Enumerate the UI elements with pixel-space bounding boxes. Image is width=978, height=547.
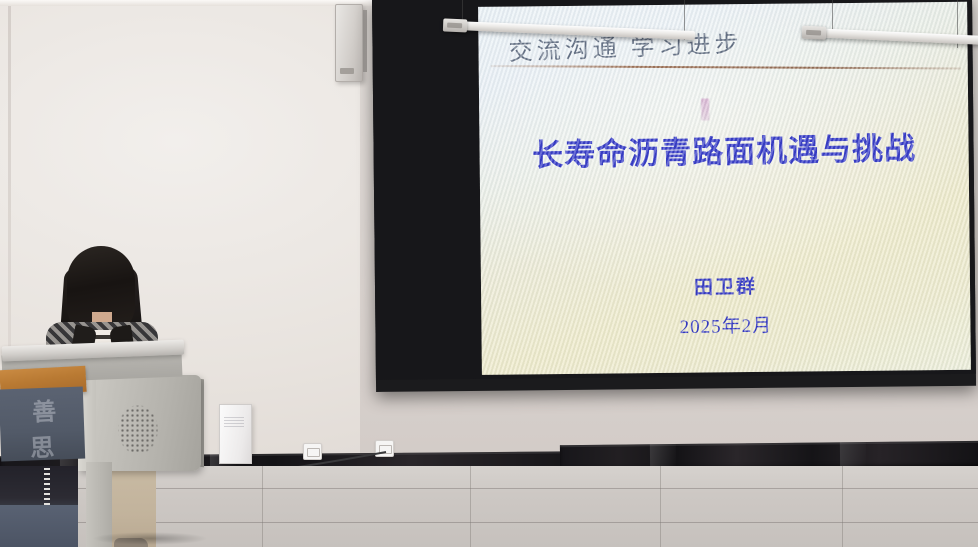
floor-grout-line [842,466,843,547]
wall-control-box[interactable] [219,404,252,464]
pendant-light-endcap [443,18,468,32]
lecture-photo: 交流沟通 学习进步 长寿命沥青路面机遇与挑战 田卫群 2025年2月 [0,0,978,547]
front-desk-base [0,505,78,547]
ceiling-edge [0,0,380,6]
desk-glyph-1: 善 [31,391,57,427]
slide-author: 田卫群 [481,268,970,304]
desk-glyph-2: 思 [29,427,55,463]
projected-slide: 交流沟通 学习进步 长寿命沥青路面机遇与挑战 田卫群 2025年2月 [478,2,971,375]
lectern-floor-shadow [70,530,230,547]
slide-title: 长寿命沥青路面机遇与挑战 [479,122,969,176]
slide-date: 2025年2月 [481,307,970,343]
floor-grout-line [470,466,471,547]
floor-grout-line [262,466,263,547]
slide-pink-mark [701,98,709,120]
pendant-light-endcap [802,26,827,40]
slide-divider-line [491,65,961,69]
podium-speaker-grille [110,398,166,459]
slide-header-calligraphy: 交流沟通 学习进步 [508,17,909,67]
projection-screen: 交流沟通 学习进步 长寿命沥青路面机遇与挑战 田卫群 2025年2月 [372,0,976,392]
floor-grout-line [660,466,661,547]
wall-speaker-icon [335,4,363,82]
